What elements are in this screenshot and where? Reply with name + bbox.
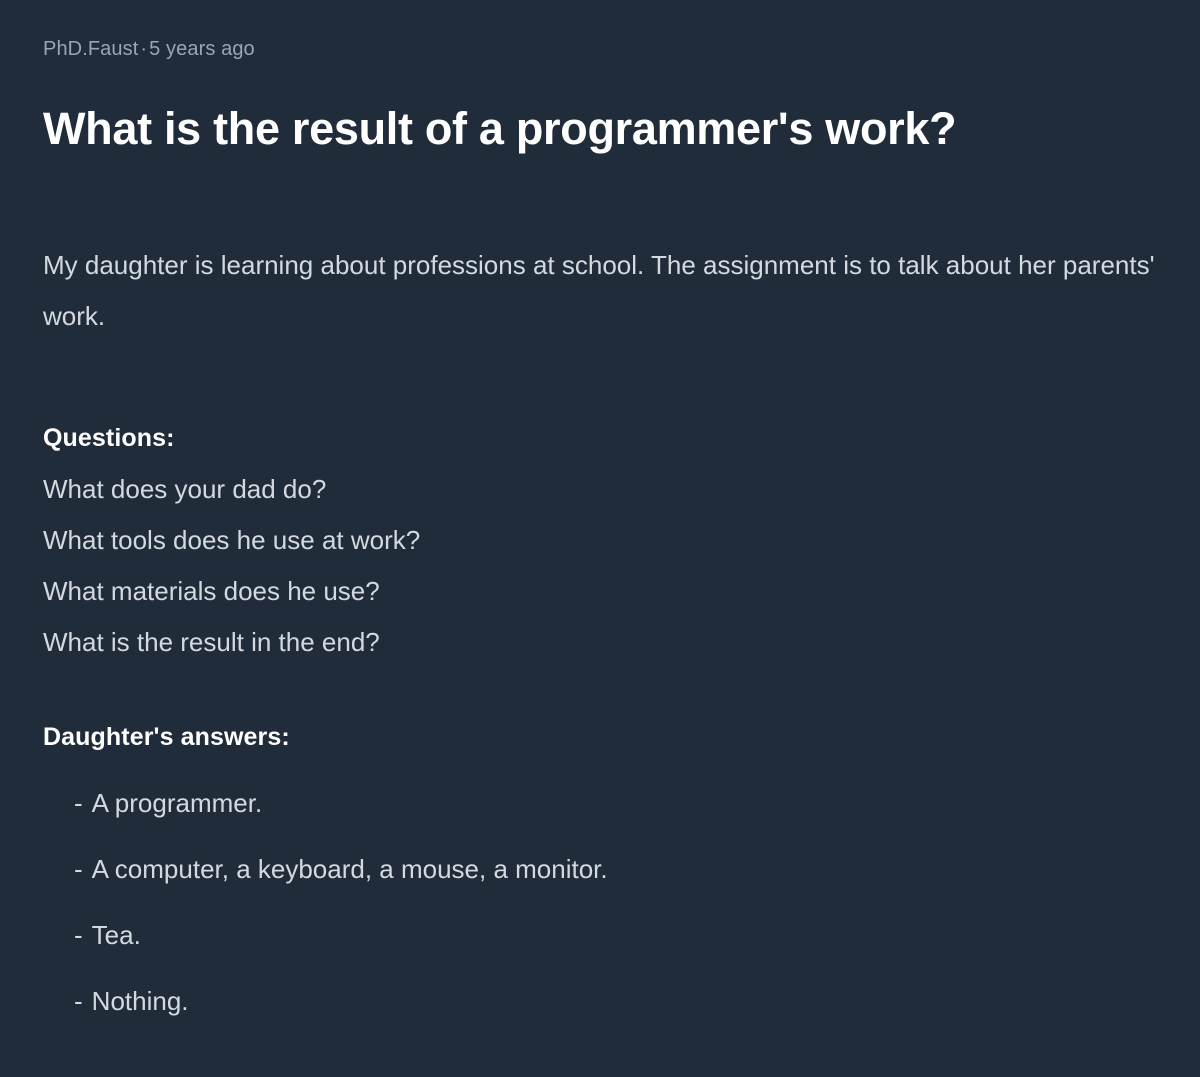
answers-heading: Daughter's answers: xyxy=(43,712,1158,763)
questions-heading: Questions: xyxy=(43,413,1158,464)
list-item-label: A computer, a keyboard, a mouse, a monit… xyxy=(92,854,608,884)
bullet-dash: - xyxy=(74,854,92,884)
byline-separator-dot: · xyxy=(138,38,149,60)
bullet-dash: - xyxy=(74,788,92,818)
list-item-label: Nothing. xyxy=(92,986,189,1016)
list-item-label: A programmer. xyxy=(92,788,263,818)
list-item: -Nothing. xyxy=(43,976,1158,1027)
post-byline: PhD.Faust·5 years ago xyxy=(43,36,1158,62)
answers-section: Daughter's answers: -A programmer. -A co… xyxy=(43,668,1158,1027)
question-line: What materials does he use? xyxy=(43,566,1158,617)
bullet-dash: - xyxy=(74,986,92,1016)
questions-section: Questions: What does your dad do? What t… xyxy=(43,368,1158,668)
page-title: What is the result of a programmer's wor… xyxy=(43,62,1043,157)
question-line: What is the result in the end? xyxy=(43,617,1158,668)
list-item: -A computer, a keyboard, a mouse, a moni… xyxy=(43,844,1158,895)
answer-list: -A programmer. -A computer, a keyboard, … xyxy=(43,763,1158,1027)
question-line: What tools does he use at work? xyxy=(43,515,1158,566)
list-item-label: Tea. xyxy=(92,920,141,950)
post-timestamp: 5 years ago xyxy=(149,38,255,60)
list-item: -Tea. xyxy=(43,910,1158,961)
post-article: PhD.Faust·5 years ago What is the result… xyxy=(0,0,1200,1077)
post-author[interactable]: PhD.Faust xyxy=(43,38,138,60)
post-intro-paragraph: My daughter is learning about profession… xyxy=(43,183,1158,342)
list-item: -A programmer. xyxy=(43,778,1158,829)
question-line: What does your dad do? xyxy=(43,464,1158,515)
bullet-dash: - xyxy=(74,920,92,950)
